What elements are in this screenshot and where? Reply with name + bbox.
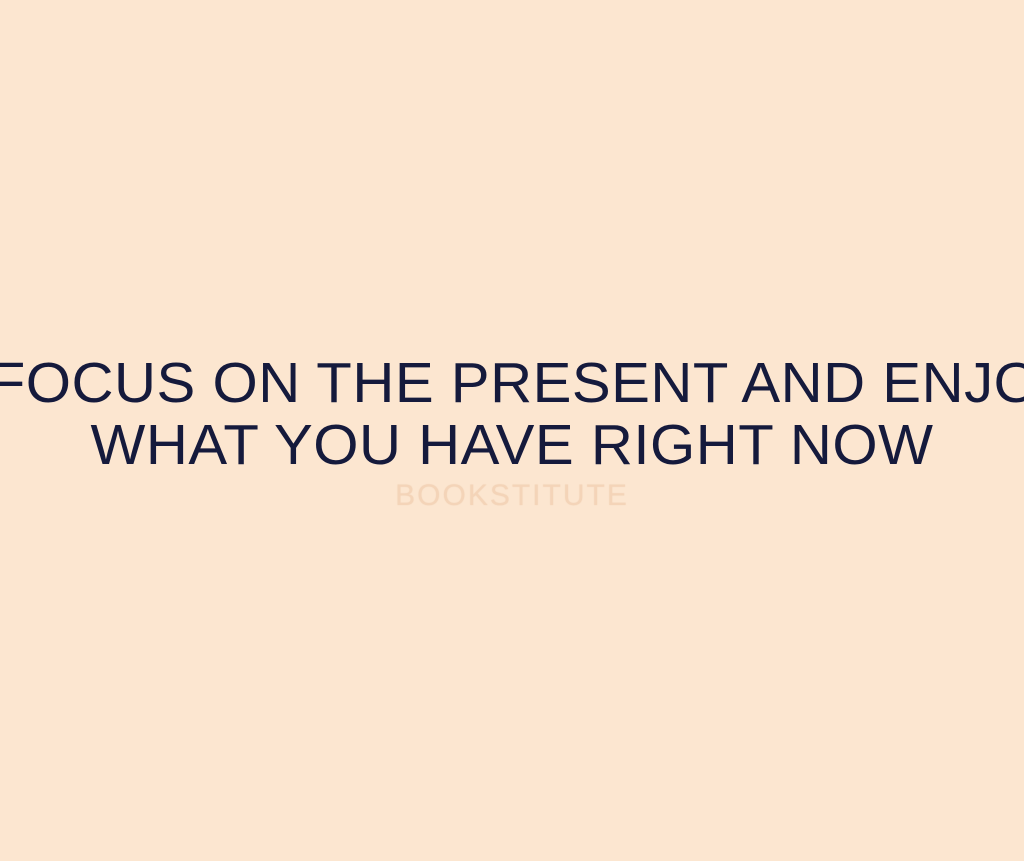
- watermark-text: BOOKSTITUTE: [395, 480, 629, 512]
- quote-line-1: FOCUS ON THE PRESENT AND ENJOY: [0, 352, 1024, 414]
- quote-line-2: WHAT YOU HAVE RIGHT NOW: [0, 414, 1024, 476]
- quote-image-canvas: FOCUS ON THE PRESENT AND ENJOY WHAT YOU …: [0, 0, 1024, 861]
- watermark: BOOKSTITUTE: [0, 480, 1024, 512]
- quote-text-block: FOCUS ON THE PRESENT AND ENJOY WHAT YOU …: [0, 352, 1024, 476]
